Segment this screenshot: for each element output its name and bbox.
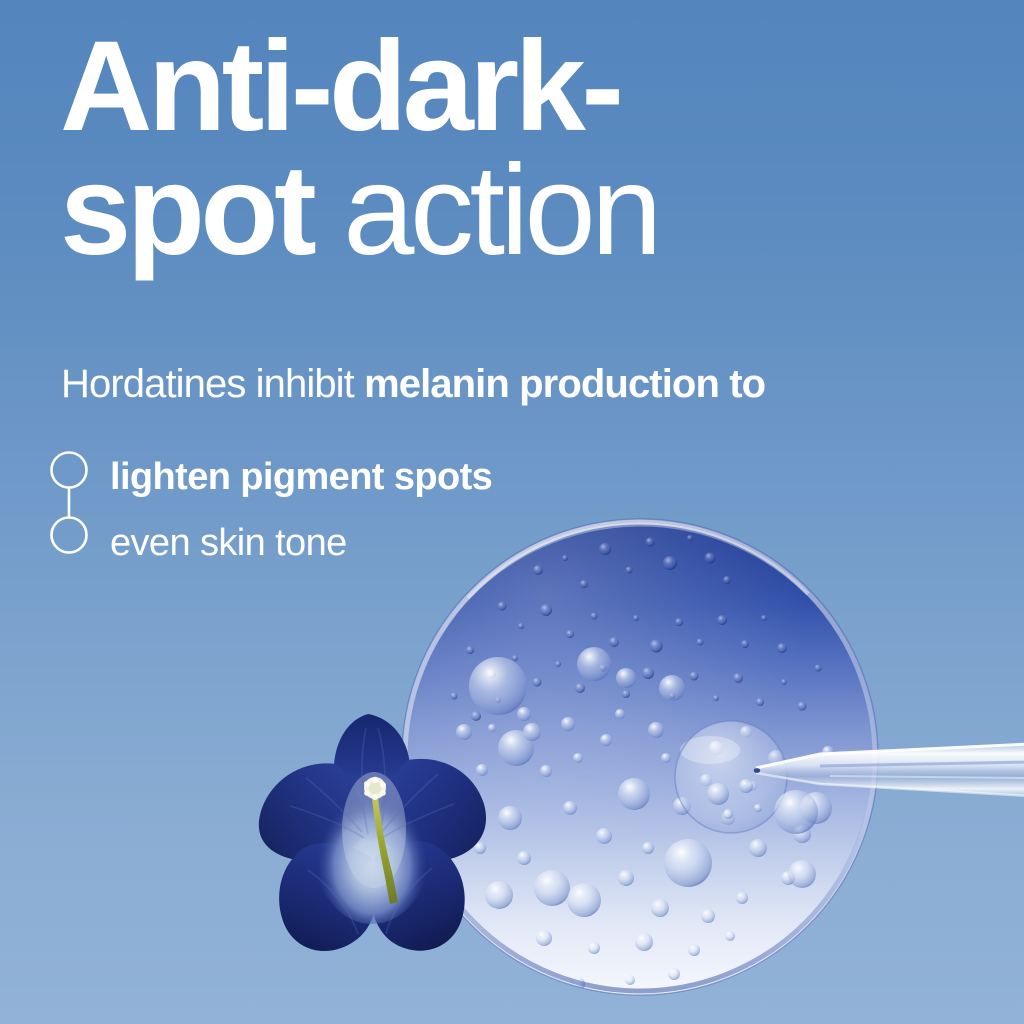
list-item: even skin tone xyxy=(42,510,742,576)
benefit-label-2: even skin tone xyxy=(110,522,347,565)
subheadline-bold: melanin production to xyxy=(364,362,765,406)
headline-line2-bold: spot xyxy=(60,139,312,282)
headline-line2-light: action xyxy=(312,139,658,282)
blue-gentian-flower xyxy=(246,702,496,960)
subheadline-light: Hordatines inhibit xyxy=(61,362,364,406)
benefit-list: lighten pigment spots even skin tone xyxy=(42,444,742,576)
subheadline: Hordatines inhibit melanin production to xyxy=(61,362,1001,406)
glass-pipette xyxy=(700,700,1024,830)
page-title: Anti-dark- spot action xyxy=(60,26,960,271)
headline-line1: Anti-dark- xyxy=(60,15,619,158)
benefit-label-1: lighten pigment spots xyxy=(110,456,492,499)
list-item: lighten pigment spots xyxy=(42,444,742,510)
promo-canvas: Anti-dark- spot action Hordatines inhibi… xyxy=(0,0,1024,1024)
